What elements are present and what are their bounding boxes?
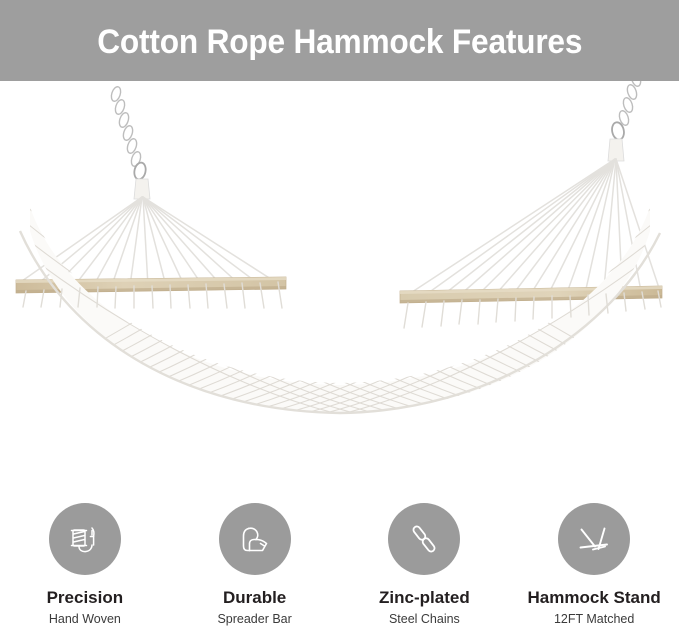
chain-links-icon bbox=[404, 519, 444, 559]
flexed-bicep-icon bbox=[235, 519, 275, 559]
feature-icon-circle bbox=[219, 503, 291, 575]
feature-title: Precision bbox=[47, 589, 124, 608]
feature-item-precision: Precision Hand Woven bbox=[0, 497, 170, 631]
feature-item-zinc-plated: Zinc-plated Steel Chains bbox=[340, 497, 510, 631]
feature-icon-circle bbox=[558, 503, 630, 575]
feature-icon-circle bbox=[49, 503, 121, 575]
feature-title: Hammock Stand bbox=[528, 589, 661, 608]
header-banner: Cotton Rope Hammock Features bbox=[0, 0, 679, 81]
hammock-hero-image bbox=[0, 81, 679, 481]
feature-title: Durable bbox=[223, 589, 286, 608]
feature-subtitle: Spreader Bar bbox=[217, 613, 291, 627]
rope-gather-left bbox=[134, 179, 150, 199]
feature-subtitle: 12FT Matched bbox=[554, 613, 634, 627]
feature-subtitle: Steel Chains bbox=[389, 613, 460, 627]
feature-item-durable: Durable Spreader Bar bbox=[170, 497, 340, 631]
feature-icon-circle bbox=[388, 503, 460, 575]
feature-subtitle: Hand Woven bbox=[49, 613, 121, 627]
feature-list: Precision Hand Woven Durable Spreader Ba… bbox=[0, 497, 679, 631]
thread-spool-needle-icon bbox=[65, 519, 105, 559]
product-feature-page: Cotton Rope Hammock Features bbox=[0, 0, 679, 631]
feature-title: Zinc-plated bbox=[379, 589, 470, 608]
hammock-illustration bbox=[0, 81, 679, 481]
feature-item-hammock-stand: Hammock Stand 12FT Matched bbox=[509, 497, 679, 631]
rope-gather-right bbox=[608, 139, 624, 161]
page-title: Cotton Rope Hammock Features bbox=[97, 25, 582, 59]
hammock-stand-icon bbox=[574, 519, 614, 559]
